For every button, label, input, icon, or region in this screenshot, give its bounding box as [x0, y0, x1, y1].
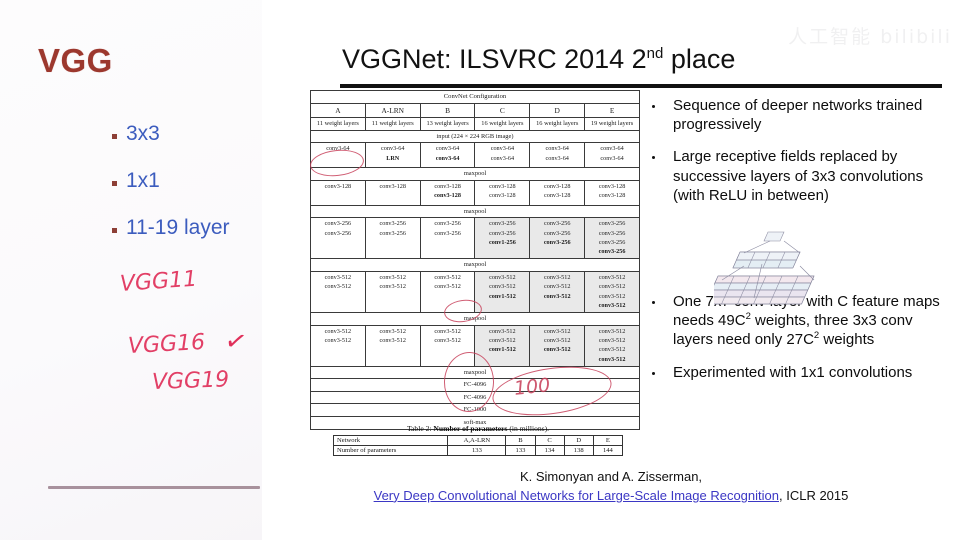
conv-cell: conv3-128 [585, 191, 639, 200]
conv-cell: conv3-128 [421, 182, 475, 191]
conv-cell: conv3-256 [585, 219, 639, 228]
citation-authors: K. Simonyan and A. Zisserman, [262, 468, 960, 487]
t2-header-c: C [535, 436, 564, 446]
citation-line2: Very Deep Convolutional Networks for Lar… [262, 487, 960, 506]
block5-d: conv3-512conv3-512conv3-512 [530, 325, 585, 366]
bullet-label: 1x1 [126, 169, 160, 193]
conv-cell: conv3-512 [585, 336, 639, 345]
conv-cell: conv3-256 [585, 229, 639, 238]
t2-row-label: Number of parameters [334, 446, 448, 456]
maxpool-row-2: maxpool [311, 205, 640, 218]
conv-cell: conv3-256 [311, 219, 365, 228]
conv-cell: conv3-512 [366, 282, 420, 291]
col-header-b: B [420, 103, 475, 117]
citation: K. Simonyan and A. Zisserman, Very Deep … [262, 468, 960, 506]
table-row: conv3-128 conv3-128 conv3-128conv3-128 c… [311, 180, 640, 205]
conv-cell: conv3-128 [366, 182, 420, 191]
conv-cell: conv3-512 [585, 327, 639, 336]
weight-layers-b: 13 weight layers [420, 118, 475, 131]
weight-layers-e: 19 weight layers [585, 118, 640, 131]
conv-cell: conv3-512 [475, 282, 529, 291]
conv-cell: conv3-512 [585, 355, 639, 364]
conv-cell: conv3-512 [585, 273, 639, 282]
table2-caption-bold: Number of parameters [433, 424, 507, 433]
conv-cell: conv3-64 [530, 144, 584, 153]
conv-cell: conv3-512 [421, 327, 475, 336]
list-item: Experimented with 1x1 convolutions [652, 363, 952, 382]
title-underline [340, 84, 942, 88]
conv-cell: conv1-512 [475, 292, 529, 301]
conv-cell: conv3-512 [530, 282, 584, 291]
conv-cell: conv3-512 [475, 327, 529, 336]
conv-cell: conv3-512 [475, 336, 529, 345]
bullet-label-4: Experimented with 1x1 convolutions [673, 363, 912, 382]
t2-value-c: 134 [535, 446, 564, 456]
block3-c: conv3-256conv3-256conv1-256 [475, 218, 530, 259]
table-row: maxpool [311, 205, 640, 218]
conv-cell: conv3-64 [530, 154, 584, 163]
input-row: input (224 × 224 RGB image) [311, 130, 640, 143]
conv-cell: conv3-256 [530, 238, 584, 247]
list-item: Sequence of deeper networks trained prog… [652, 96, 952, 134]
conv-cell: conv3-64 [475, 144, 529, 153]
table2-caption-pre: Table 2: [407, 424, 433, 433]
square-bullet-icon [112, 134, 117, 139]
conv-cell: conv3-64 [475, 154, 529, 163]
lecture-slide-image: 人工智能 bilibili VGGNet: ILSVRC 2014 2nd pl… [262, 0, 960, 540]
conv-cell: conv1-256 [475, 238, 529, 247]
conv-cell: conv3-128 [530, 191, 584, 200]
block5-alrn: conv3-512conv3-512 [365, 325, 420, 366]
left-whiteboard-panel: VGG 3x3 1x1 11-19 layer VGG11 VGG16 VGG1… [0, 0, 272, 540]
t2-header-d: D [564, 436, 593, 446]
conv-cell: conv3-256 [311, 229, 365, 238]
bullet3-part-c: weights [819, 331, 874, 348]
handwriting-vgg11: VGG11 [119, 267, 198, 297]
block2-c: conv3-128conv3-128 [475, 180, 530, 205]
col-header-alrn: A-LRN [365, 103, 420, 117]
conv-cell: conv3-512 [585, 282, 639, 291]
t2-value-e: 144 [593, 446, 622, 456]
conv-cell: conv3-256 [366, 219, 420, 228]
divider [48, 486, 260, 489]
block2-alrn: conv3-128 [365, 180, 420, 205]
weight-layers-a: 11 weight layers [311, 118, 366, 131]
conv-cell: conv3-512 [421, 336, 475, 345]
table2-parameters: Table 2: Number of parameters (in millio… [328, 424, 628, 456]
conv-cell: conv3-512 [421, 273, 475, 282]
table-row: 11 weight layers 11 weight layers 13 wei… [311, 118, 640, 131]
maxpool-row-1: maxpool [311, 168, 640, 181]
block3-d: conv3-256conv3-256conv3-256 [530, 218, 585, 259]
citation-venue: , ICLR 2015 [779, 488, 848, 503]
block2-e: conv3-128conv3-128 [585, 180, 640, 205]
block2-b: conv3-128conv3-128 [420, 180, 475, 205]
table-title: ConvNet Configuration [311, 91, 640, 104]
t2-header-network: Network [334, 436, 448, 446]
block3-e: conv3-256conv3-256conv3-256conv3-256 [585, 218, 640, 259]
block4-c: conv3-512conv3-512conv1-512 [475, 272, 530, 313]
conv-cell: conv3-128 [585, 182, 639, 191]
table-row: conv3-256conv3-256 conv3-256conv3-256 co… [311, 218, 640, 259]
col-header-c: C [475, 103, 530, 117]
maxpool-row-3: maxpool [311, 259, 640, 272]
square-bullet-icon [112, 228, 117, 233]
conv-cell: conv3-64 [421, 154, 475, 163]
t2-header-e: E [593, 436, 622, 446]
bullet-label-1: Sequence of deeper networks trained prog… [673, 96, 952, 134]
table2-caption-post: (in millions). [508, 424, 550, 433]
block1-alrn: conv3-64LRN [365, 143, 420, 168]
block4-a: conv3-512conv3-512 [311, 272, 366, 313]
dot-bullet-icon [652, 105, 655, 108]
block5-e: conv3-512conv3-512conv3-512conv3-512 [585, 325, 640, 366]
handwriting-vgg16: VGG16 [127, 330, 205, 359]
bullet-label: 11-19 layer [126, 216, 230, 240]
conv-cell: conv3-512 [366, 336, 420, 345]
slide-screenshot: VGG 3x3 1x1 11-19 layer VGG11 VGG16 VGG1… [0, 0, 960, 540]
table2-caption: Table 2: Number of parameters (in millio… [328, 424, 628, 433]
conv-cell: conv3-512 [585, 301, 639, 310]
conv-cell: conv3-128 [421, 191, 475, 200]
paper-link[interactable]: Very Deep Convolutional Networks for Lar… [374, 488, 779, 503]
slide-title: VGGNet: ILSVRC 2014 2nd place [342, 44, 735, 75]
table-row: maxpool [311, 168, 640, 181]
conv-cell: LRN [366, 154, 420, 163]
ink-handwriting-100: 100 [513, 374, 551, 400]
col-header-e: E [585, 103, 640, 117]
table-row: input (224 × 224 RGB image) [311, 130, 640, 143]
block3-a: conv3-256conv3-256 [311, 218, 366, 259]
conv-cell: conv3-512 [530, 345, 584, 354]
weight-layers-alrn: 11 weight layers [365, 118, 420, 131]
table-row: A A-LRN B C D E [311, 103, 640, 117]
block4-alrn: conv3-512conv3-512 [365, 272, 420, 313]
dot-bullet-icon [652, 301, 655, 304]
square-bullet-icon [112, 181, 117, 186]
conv-cell: conv3-64 [421, 144, 475, 153]
bullet-label-2: Large receptive fields replaced by succe… [673, 147, 952, 205]
conv-cell: conv3-512 [311, 282, 365, 291]
t2-header-aalrn: A,A-LRN [448, 436, 506, 446]
col-header-d: D [530, 103, 585, 117]
conv-cell: conv3-512 [530, 336, 584, 345]
list-item: Large receptive fields replaced by succe… [652, 147, 952, 205]
conv-cell: conv3-128 [475, 191, 529, 200]
conv-cell: conv3-256 [366, 229, 420, 238]
block1-e: conv3-64conv3-64 [585, 143, 640, 168]
conv-cell: conv3-512 [585, 345, 639, 354]
conv-cell: conv3-256 [421, 219, 475, 228]
block2-d: conv3-128conv3-128 [530, 180, 585, 205]
conv-cell: conv3-512 [366, 327, 420, 336]
conv-cell: conv3-128 [530, 182, 584, 191]
conv-cell: conv3-64 [366, 144, 420, 153]
slide-title-ordinal: nd [647, 45, 664, 62]
conv-cell: conv3-128 [475, 182, 529, 191]
conv-cell: conv3-256 [475, 219, 529, 228]
receptive-field-diagram [714, 228, 842, 314]
t2-value-aalrn: 133 [448, 446, 506, 456]
conv-cell: conv3-512 [366, 273, 420, 282]
conv-cell: conv3-64 [585, 144, 639, 153]
conv-cell: conv3-256 [585, 238, 639, 247]
conv-cell: conv3-256 [421, 229, 475, 238]
dot-bullet-icon [652, 156, 655, 159]
bullet-label: 3x3 [126, 122, 160, 146]
col-header-a: A [311, 103, 366, 117]
block3-alrn: conv3-256conv3-256 [365, 218, 420, 259]
t2-value-b: 133 [506, 446, 535, 456]
block4-d: conv3-512conv3-512conv3-512 [530, 272, 585, 313]
block3-b: conv3-256conv3-256 [420, 218, 475, 259]
dot-bullet-icon [652, 372, 655, 375]
conv-cell: conv1-512 [475, 345, 529, 354]
conv-cell: conv3-512 [530, 292, 584, 301]
slide-title-tail: place [663, 44, 735, 74]
conv-cell: conv3-256 [530, 229, 584, 238]
block4-e: conv3-512conv3-512conv3-512conv3-512 [585, 272, 640, 313]
conv-cell: conv3-64 [585, 154, 639, 163]
handwriting-vgg19: VGG19 [152, 367, 230, 395]
receptive-field-svg [714, 228, 842, 314]
conv-cell: conv3-512 [530, 327, 584, 336]
weight-layers-d: 16 weight layers [530, 118, 585, 131]
conv-cell: conv3-512 [530, 273, 584, 282]
page-title: VGG [38, 42, 113, 80]
t2-header-b: B [506, 436, 535, 446]
conv-cell: conv3-512 [311, 336, 365, 345]
conv-cell: conv3-512 [475, 273, 529, 282]
t2-value-d: 138 [564, 446, 593, 456]
block1-b: conv3-64conv3-64 [420, 143, 475, 168]
conv-cell: conv3-512 [421, 282, 475, 291]
block2-a: conv3-128 [311, 180, 366, 205]
watermark: 人工智能 bilibili [720, 18, 952, 52]
slide-title-main: VGGNet: ILSVRC 2014 2 [342, 44, 647, 74]
handwriting-checkmark: ✓ [222, 324, 250, 359]
conv-cell: conv3-512 [585, 292, 639, 301]
conv-cell: conv3-256 [530, 219, 584, 228]
conv-cell: conv3-512 [311, 273, 365, 282]
block5-a: conv3-512conv3-512 [311, 325, 366, 366]
weight-layers-c: 16 weight layers [475, 118, 530, 131]
conv-cell: conv3-512 [311, 327, 365, 336]
conv-cell: conv3-256 [585, 247, 639, 256]
block1-c: conv3-64conv3-64 [475, 143, 530, 168]
table-row: maxpool [311, 259, 640, 272]
table-row: Number of parameters 133 133 134 138 144 [334, 446, 623, 456]
table-row: Network A,A-LRN B C D E [334, 436, 623, 446]
conv-cell: conv3-256 [475, 229, 529, 238]
conv-cell: conv3-128 [311, 182, 365, 191]
block1-d: conv3-64conv3-64 [530, 143, 585, 168]
